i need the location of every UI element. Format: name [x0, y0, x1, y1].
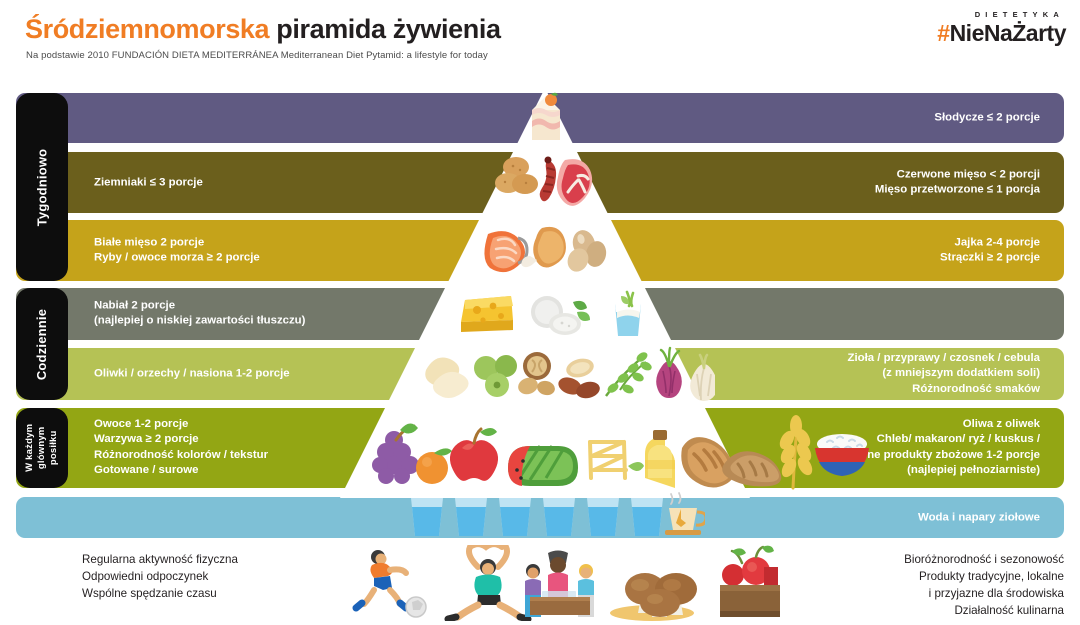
pasta-icon — [590, 442, 644, 478]
sidebar-item-tygodniowo[interactable]: Tygodniowo — [16, 93, 68, 281]
olive-oil-bottle-icon — [645, 430, 675, 488]
yogurt-glass-icon — [615, 292, 641, 336]
apple-icon — [450, 428, 498, 481]
icons-grains-right — [775, 404, 870, 490]
people-at-table-icon — [525, 551, 594, 618]
walnuts-icon — [516, 352, 556, 397]
icons-fruit-veg-grains — [372, 408, 782, 488]
icons-water — [405, 492, 705, 540]
wheat-icon — [777, 415, 815, 488]
logo-kicker: DIETETYKA — [937, 10, 1064, 19]
sausage-icon — [540, 157, 556, 202]
icons-potatoes-redmeat — [495, 150, 595, 212]
watermelon-icon — [508, 446, 578, 486]
baguette-icon — [722, 451, 781, 486]
red-meat-icon — [557, 159, 592, 206]
icons-olives-nuts-herbs — [420, 344, 715, 402]
cashews-icon — [425, 358, 468, 398]
band-label-left: Nabiał 2 porcje (najlepiej o niskiej zaw… — [94, 299, 305, 330]
herbs-icon — [606, 350, 653, 396]
eggs-icon — [564, 228, 609, 275]
soft-cheese-icon — [531, 296, 590, 335]
title-highlight: Śródziemnomorska — [25, 14, 269, 44]
page-footer: Regularna aktywność fizyczna Odpowiedni … — [0, 543, 1080, 625]
icons-whitemeat-fish-eggs — [480, 218, 610, 280]
water-glass-icon — [455, 498, 487, 536]
sidebar-item-label: W każdym glównym posiłku — [24, 424, 60, 472]
red-onion-icon — [656, 348, 682, 398]
water-glass-icon — [587, 498, 619, 536]
potatoes-icon — [495, 157, 538, 194]
footer-icons — [350, 545, 780, 621]
mushrooms-icon — [610, 573, 697, 621]
band-label-right: Zioła / przyprawy / czosnek / cebula (z … — [848, 351, 1040, 397]
water-glass-icon — [499, 498, 531, 536]
band-label-left: Owoce 1-2 porcje Warzywa ≥ 2 porcje Różn… — [94, 417, 268, 479]
band-label-right: Oliwa z oliwek Chleb/ makaron/ ryż / kus… — [857, 417, 1040, 479]
cake-slice-icon — [532, 93, 560, 140]
garlic-icon — [690, 355, 715, 401]
water-glass-icon — [543, 498, 575, 536]
footer-right-text: Bioróżnorodność i sezonowość Produkty tr… — [904, 551, 1064, 620]
page-header: Śródziemnomorska piramida żywienia Na po… — [0, 0, 1080, 88]
almonds-icon — [556, 356, 602, 401]
band-label-right: Czerwone mięso < 2 porcji Mięso przetwor… — [875, 167, 1040, 198]
tea-cup-icon — [665, 493, 705, 535]
rice-bowl-icon — [815, 434, 869, 476]
page-title: Śródziemnomorska piramida żywienia — [25, 14, 501, 45]
band-label-left: Białe mięso 2 porcje Ryby / owoce morza … — [94, 235, 260, 266]
soccer-player-icon — [356, 550, 426, 617]
brand-logo: DIETETYKA #NieNaŻarty — [937, 10, 1066, 45]
water-glass-icon — [411, 498, 443, 536]
pyramid-stage: Słodycze ≤ 2 porcje Ziemniaki ≤ 3 porcje… — [0, 88, 1080, 543]
icons-dairy — [455, 286, 650, 340]
logo-name: NieNaŻarty — [950, 20, 1066, 46]
icons-sweets — [515, 88, 577, 146]
apple-crate-icon — [720, 546, 780, 617]
sidebar-item-kazdym-posilku[interactable]: W każdym glównym posiłku — [16, 408, 68, 488]
logo-wordmark: #NieNaŻarty — [937, 21, 1066, 45]
grapes-icon — [372, 423, 419, 484]
band-label-left: Oliwki / orzechy / nasiona 1-2 porcje — [94, 366, 290, 381]
band-label-right: Woda i napary ziołowe — [918, 510, 1040, 525]
title-rest: piramida żywienia — [269, 14, 500, 44]
band-label-right: Słodycze ≤ 2 porcje — [934, 110, 1040, 125]
hash-icon: # — [937, 20, 949, 46]
cheese-wedge-icon — [461, 296, 513, 332]
band-label-left: Ziemniaki ≤ 3 porcje — [94, 175, 203, 190]
water-glass-icon — [631, 498, 663, 536]
sidebar-item-label: Tygodniowo — [35, 148, 50, 226]
band-label-right: Jajka 2-4 porcje Strączki ≥ 2 porcje — [940, 235, 1040, 266]
sidebar-item-codziennie[interactable]: Codziennie — [16, 288, 68, 400]
stretching-person-icon — [448, 545, 528, 619]
orange-icon — [416, 448, 452, 484]
footer-left-text: Regularna aktywność fizyczna Odpowiedni … — [82, 551, 238, 602]
sidebar-item-label: Codziennie — [35, 308, 50, 379]
salmon-steak-icon — [484, 231, 527, 272]
page-subtitle: Na podstawie 2010 FUNDACIÓN DIETA MEDITE… — [26, 50, 488, 61]
green-olives-icon — [474, 355, 517, 397]
